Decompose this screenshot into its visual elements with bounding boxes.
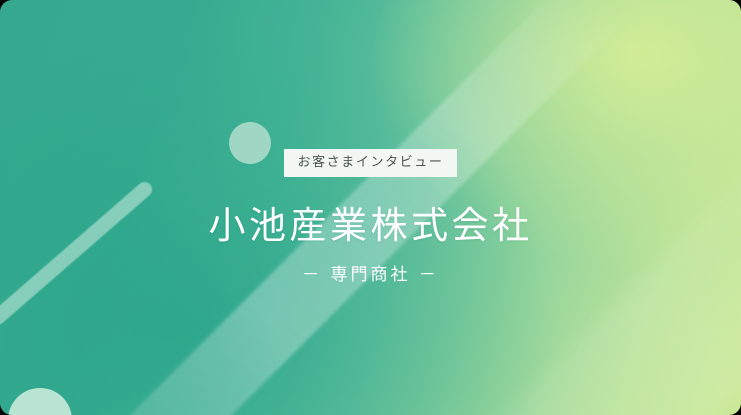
company-category-label: － 専門商社 － (302, 267, 439, 284)
title-card: お客さまインタビュー 小池産業株式会社 － 専門商社 － (0, 0, 741, 415)
eyebrow-badge: お客さまインタビュー (284, 149, 456, 177)
page-title: 小池産業株式会社 (209, 206, 533, 247)
title-content: お客さまインタビュー 小池産業株式会社 － 専門商社 － (0, 0, 741, 415)
